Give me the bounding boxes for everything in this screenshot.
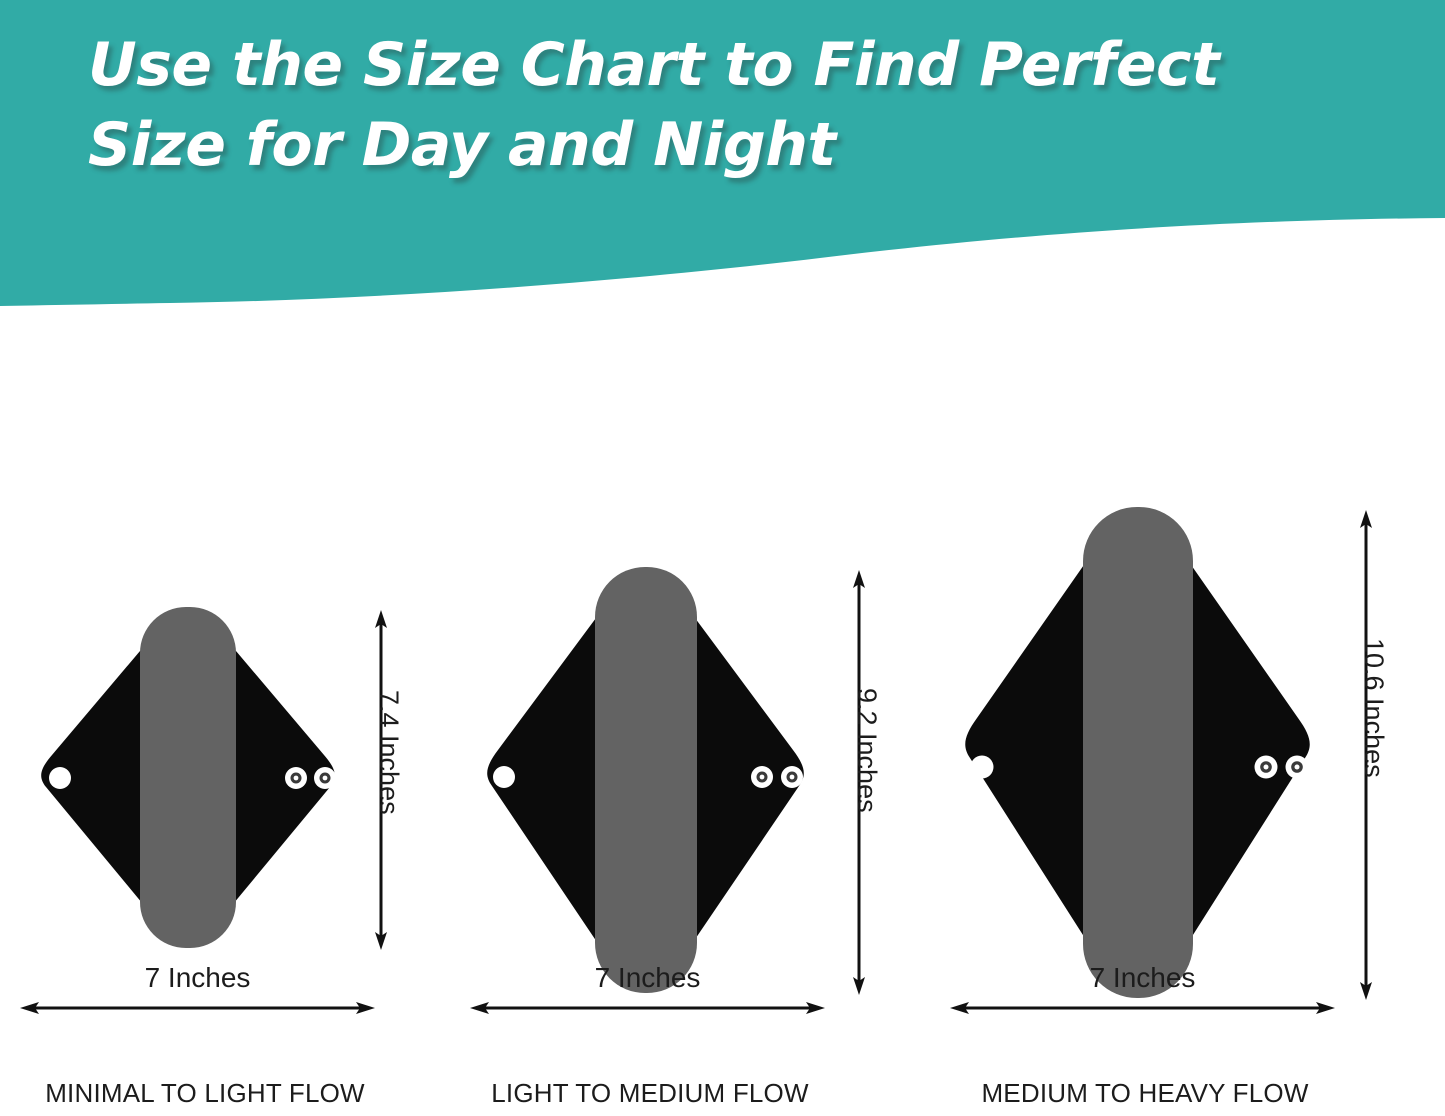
snap-left-icon <box>49 767 71 789</box>
size-chart-pads: 7.4 Inches 7 Inches MINIMAL TO LIGHT FLO… <box>0 320 1445 1116</box>
pad-shape-small <box>28 605 348 950</box>
pad-illustration-large <box>950 505 1325 1000</box>
width-label-large: 7 Inches <box>950 962 1335 994</box>
width-dimension-small: 7 Inches <box>20 998 375 1018</box>
pad-card-large: 10.6 Inches 7 Inches MEDIUM TO HEAVY FLO… <box>945 320 1405 1116</box>
height-dimension-large: 10.6 Inches <box>1355 510 1377 1000</box>
pad-card-medium: 9.2 Inches 7 Inches LIGHT TO MEDIUM FLOW <box>465 320 895 1116</box>
pad-shape-medium <box>473 565 818 995</box>
width-dimension-medium: 7 Inches <box>470 998 825 1018</box>
width-label-small: 7 Inches <box>20 962 375 994</box>
width-arrow-medium <box>470 998 825 1018</box>
width-dimension-large: 7 Inches <box>950 998 1335 1018</box>
pad-illustration-medium <box>473 565 818 995</box>
pad-illustration-small <box>28 605 348 950</box>
height-label-large: 10.6 Inches <box>1358 638 1389 778</box>
height-label-medium: 9.2 Inches <box>851 688 882 813</box>
header-banner: Use the Size Chart to Find Perfect Size … <box>0 0 1445 320</box>
width-label-medium: 7 Inches <box>470 962 825 994</box>
snap-left-icon <box>493 766 515 788</box>
height-dimension-medium: 9.2 Inches <box>848 570 870 995</box>
snap-left-icon <box>971 756 994 779</box>
pad-shape-large <box>950 505 1325 1000</box>
height-dimension-small: 7.4 Inches <box>370 610 392 950</box>
pad-card-small: 7.4 Inches 7 Inches MINIMAL TO LIGHT FLO… <box>10 320 430 1116</box>
flow-label-medium: LIGHT TO MEDIUM FLOW <box>465 1078 835 1109</box>
height-label-small: 7.4 Inches <box>373 690 404 815</box>
width-arrow-large <box>950 998 1335 1018</box>
width-arrow-small <box>20 998 375 1018</box>
flow-label-small: MINIMAL TO LIGHT FLOW <box>10 1078 400 1109</box>
page-title: Use the Size Chart to Find Perfect Size … <box>88 26 1388 186</box>
flow-label-large: MEDIUM TO HEAVY FLOW <box>955 1078 1335 1109</box>
